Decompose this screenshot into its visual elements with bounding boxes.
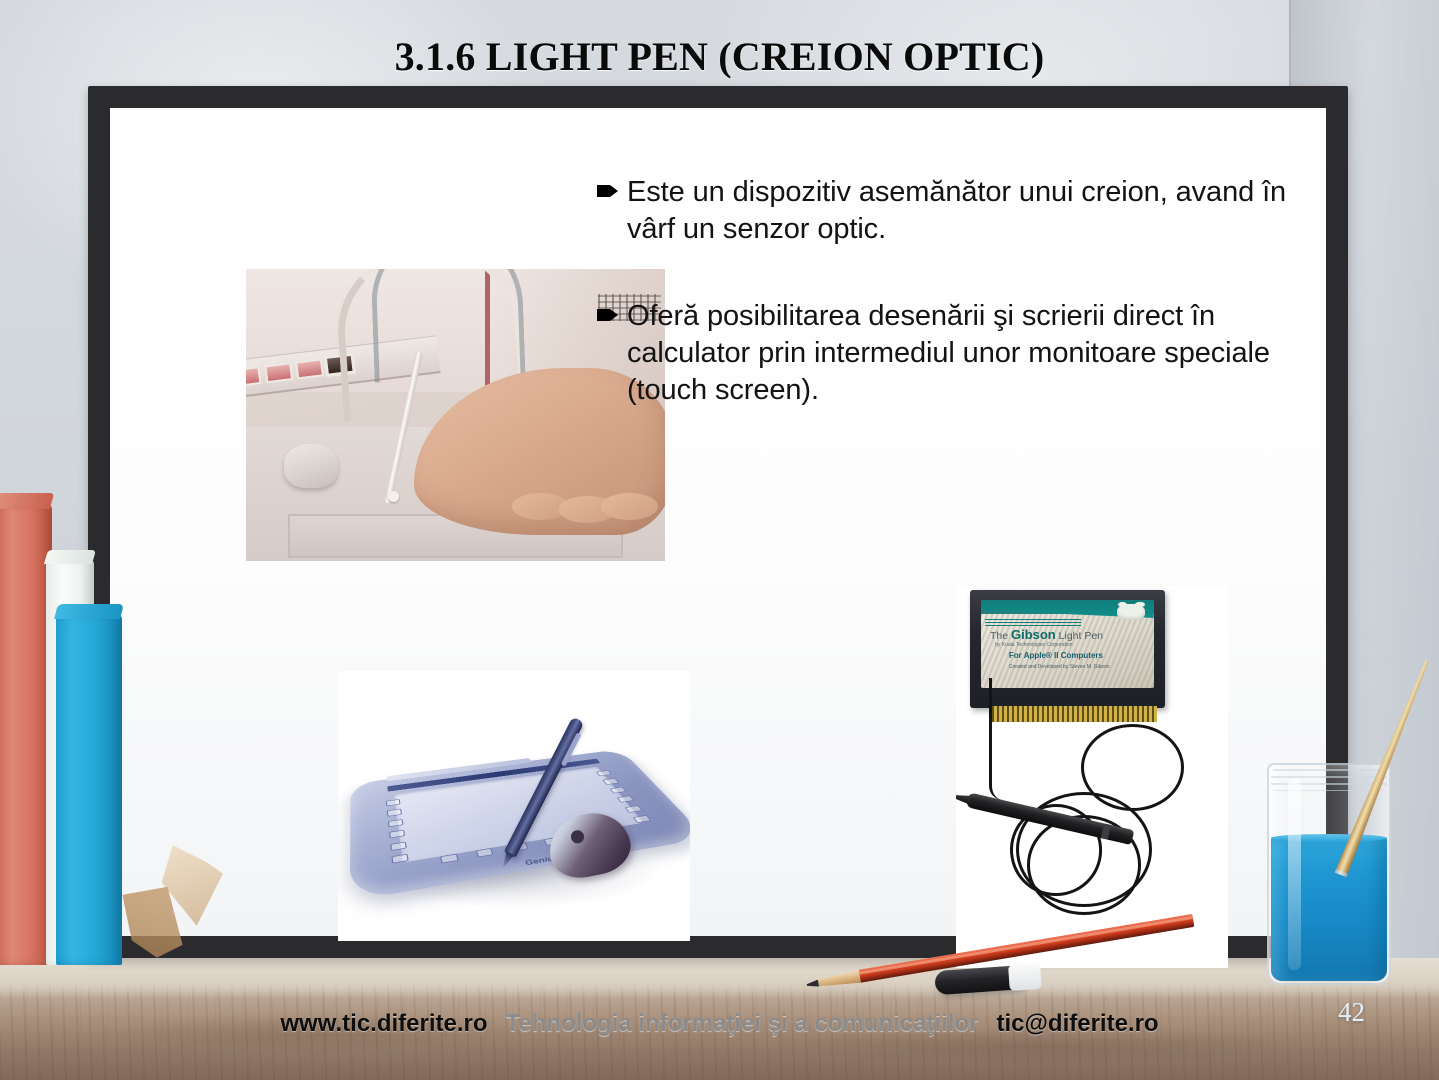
socket-1 [246,366,262,387]
book-red [0,505,52,965]
gibson-label-apple: For Apple® II Computers [1009,651,1103,660]
graphics-tablet-photo: Genius [338,671,690,941]
pen-cable-secondary [369,269,525,383]
tablet-button [388,830,405,839]
gibson-label-subtitle: by Koala Technologies Corporation [995,642,1072,648]
bullet-text: Este un dispozitiv asemănător unui creio… [627,174,1337,248]
eraser [934,965,1027,995]
stylus-band [1101,824,1111,840]
tablet-button [390,841,407,850]
page-title: 3.1.6 LIGHT PEN (CREION OPTIC) [0,33,1439,80]
mouse-scroll-wheel [570,829,585,845]
footer: www.tic.diferite.ro Tehnologia informaţi… [0,1010,1439,1038]
label-teal-lines [985,618,1082,626]
cable-puck [284,444,338,488]
label-title-the: The [990,630,1011,642]
bullet-item: Oferă posibilitarea desenării şi scrieri… [597,298,1337,409]
tablet-button [387,819,403,827]
slide-frame: Genius The Gibson Light Pen by Koala Tec… [88,86,1348,958]
footer-email[interactable]: tic@diferite.ro [997,1010,1159,1038]
footer-website[interactable]: www.tic.diferite.ro [280,1010,487,1038]
tablet-button [624,805,642,813]
tablet-button [386,809,402,817]
tablet-button [475,848,494,858]
gibson-label-credit: Created and Developed by Steven M. Gibso… [1009,664,1110,672]
tablet-button [632,815,651,823]
tablet-button [609,787,626,794]
cartridge-cable-lead [989,678,1016,800]
socket-3 [295,358,324,379]
bullet-list: Este un dispozitiv asemănător unui creio… [597,174,1337,440]
label-title-rest: Light Pen [1056,630,1103,642]
label-title-brand: Gibson [1011,627,1056,642]
gibson-light-pen-photo: The Gibson Light Pen by Koala Technologi… [956,586,1228,968]
tablet-button [439,854,457,864]
socket-2 [264,362,293,383]
tablet-button [385,799,400,806]
tablet-button [616,795,633,802]
tablet-button [596,770,612,776]
slide-canvas: Genius The Gibson Light Pen by Koala Tec… [110,108,1326,936]
tablet-button [602,778,618,784]
gibson-label: The Gibson Light Pen by Koala Technologi… [981,600,1153,688]
bullet-text: Oferă posibilitarea desenării şi scrieri… [627,298,1337,409]
tablet-button [391,854,409,864]
eraser-cap [1008,963,1042,991]
jar-glass-highlight [1288,778,1301,970]
koala-bear-icon [1117,604,1145,620]
book-cyan [56,615,122,965]
footer-subject: Tehnologia informaţiei şi a comunicaţiil… [506,1010,979,1038]
gibson-label-title: The Gibson Light Pen [990,627,1145,642]
arrow-bullet-icon [597,298,627,323]
finger-3 [601,493,658,520]
bullet-item: Este un dispozitiv asemănător unui creio… [597,174,1337,248]
arrow-bullet-icon [597,174,627,199]
